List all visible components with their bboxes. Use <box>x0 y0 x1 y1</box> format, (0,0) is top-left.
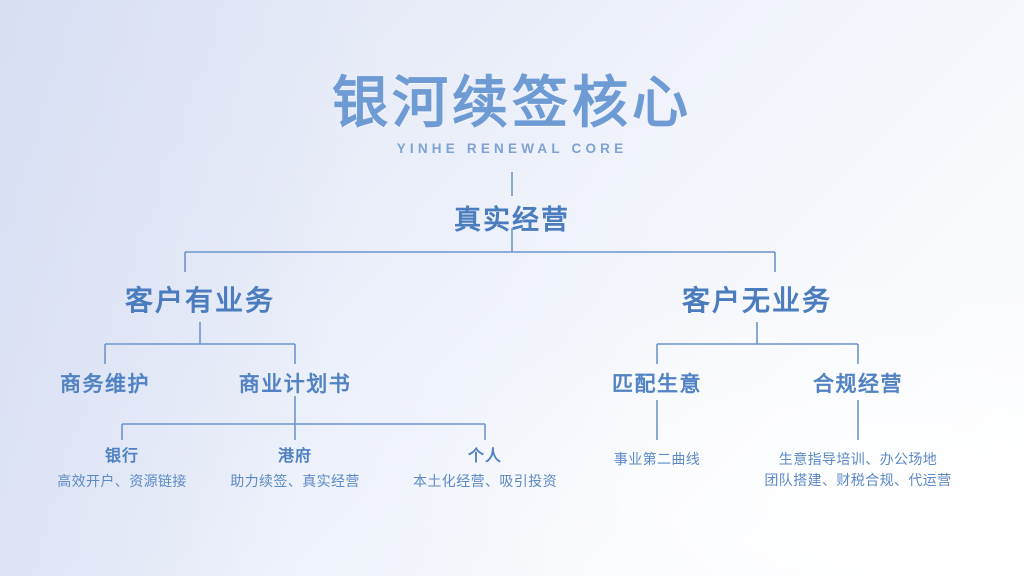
diagram-canvas: 银河续签核心 YINHE RENEWAL CORE 真实经营 客户有业务 客户无… <box>0 0 1024 576</box>
leaf-second-curve[interactable]: 事业第二曲线 <box>614 449 700 470</box>
leaf-bank-desc: 高效开户、资源链接 <box>57 471 187 491</box>
node-business-maintenance[interactable]: 商务维护 <box>60 368 150 398</box>
node-customer-has-business[interactable]: 客户有业务 <box>125 279 275 319</box>
node-customer-no-business[interactable]: 客户无业务 <box>682 279 832 319</box>
leaf-individual-title: 个人 <box>413 447 557 467</box>
leaf-government-desc: 助力续签、真实经营 <box>230 471 360 491</box>
leaf-compliance-services[interactable]: 生意指导培训、办公场地 团队搭建、财税合规、代运营 <box>764 449 951 491</box>
leaf-individual-desc: 本土化经营、吸引投资 <box>413 471 557 491</box>
leaf-bank-title: 银行 <box>57 447 187 467</box>
page-title: 银河续签核心 <box>332 72 692 135</box>
leaf-government[interactable]: 港府 助力续签、真实经营 <box>230 447 360 491</box>
node-business-plan[interactable]: 商业计划书 <box>239 368 352 398</box>
leaf-government-title: 港府 <box>230 447 360 467</box>
title-block: 银河续签核心 YINHE RENEWAL CORE <box>332 72 692 156</box>
node-root[interactable]: 真实经营 <box>454 198 570 237</box>
page-subtitle: YINHE RENEWAL CORE <box>332 141 692 156</box>
node-compliant-operation[interactable]: 合规经营 <box>813 368 903 398</box>
node-match-business[interactable]: 匹配生意 <box>612 368 702 398</box>
leaf-individual[interactable]: 个人 本土化经营、吸引投资 <box>413 447 557 491</box>
leaf-compliance-line-1: 生意指导培训、办公场地 <box>764 449 951 470</box>
leaf-bank[interactable]: 银行 高效开户、资源链接 <box>57 447 187 491</box>
leaf-second-curve-desc: 事业第二曲线 <box>614 449 700 470</box>
leaf-compliance-line-2: 团队搭建、财税合规、代运营 <box>764 470 951 491</box>
